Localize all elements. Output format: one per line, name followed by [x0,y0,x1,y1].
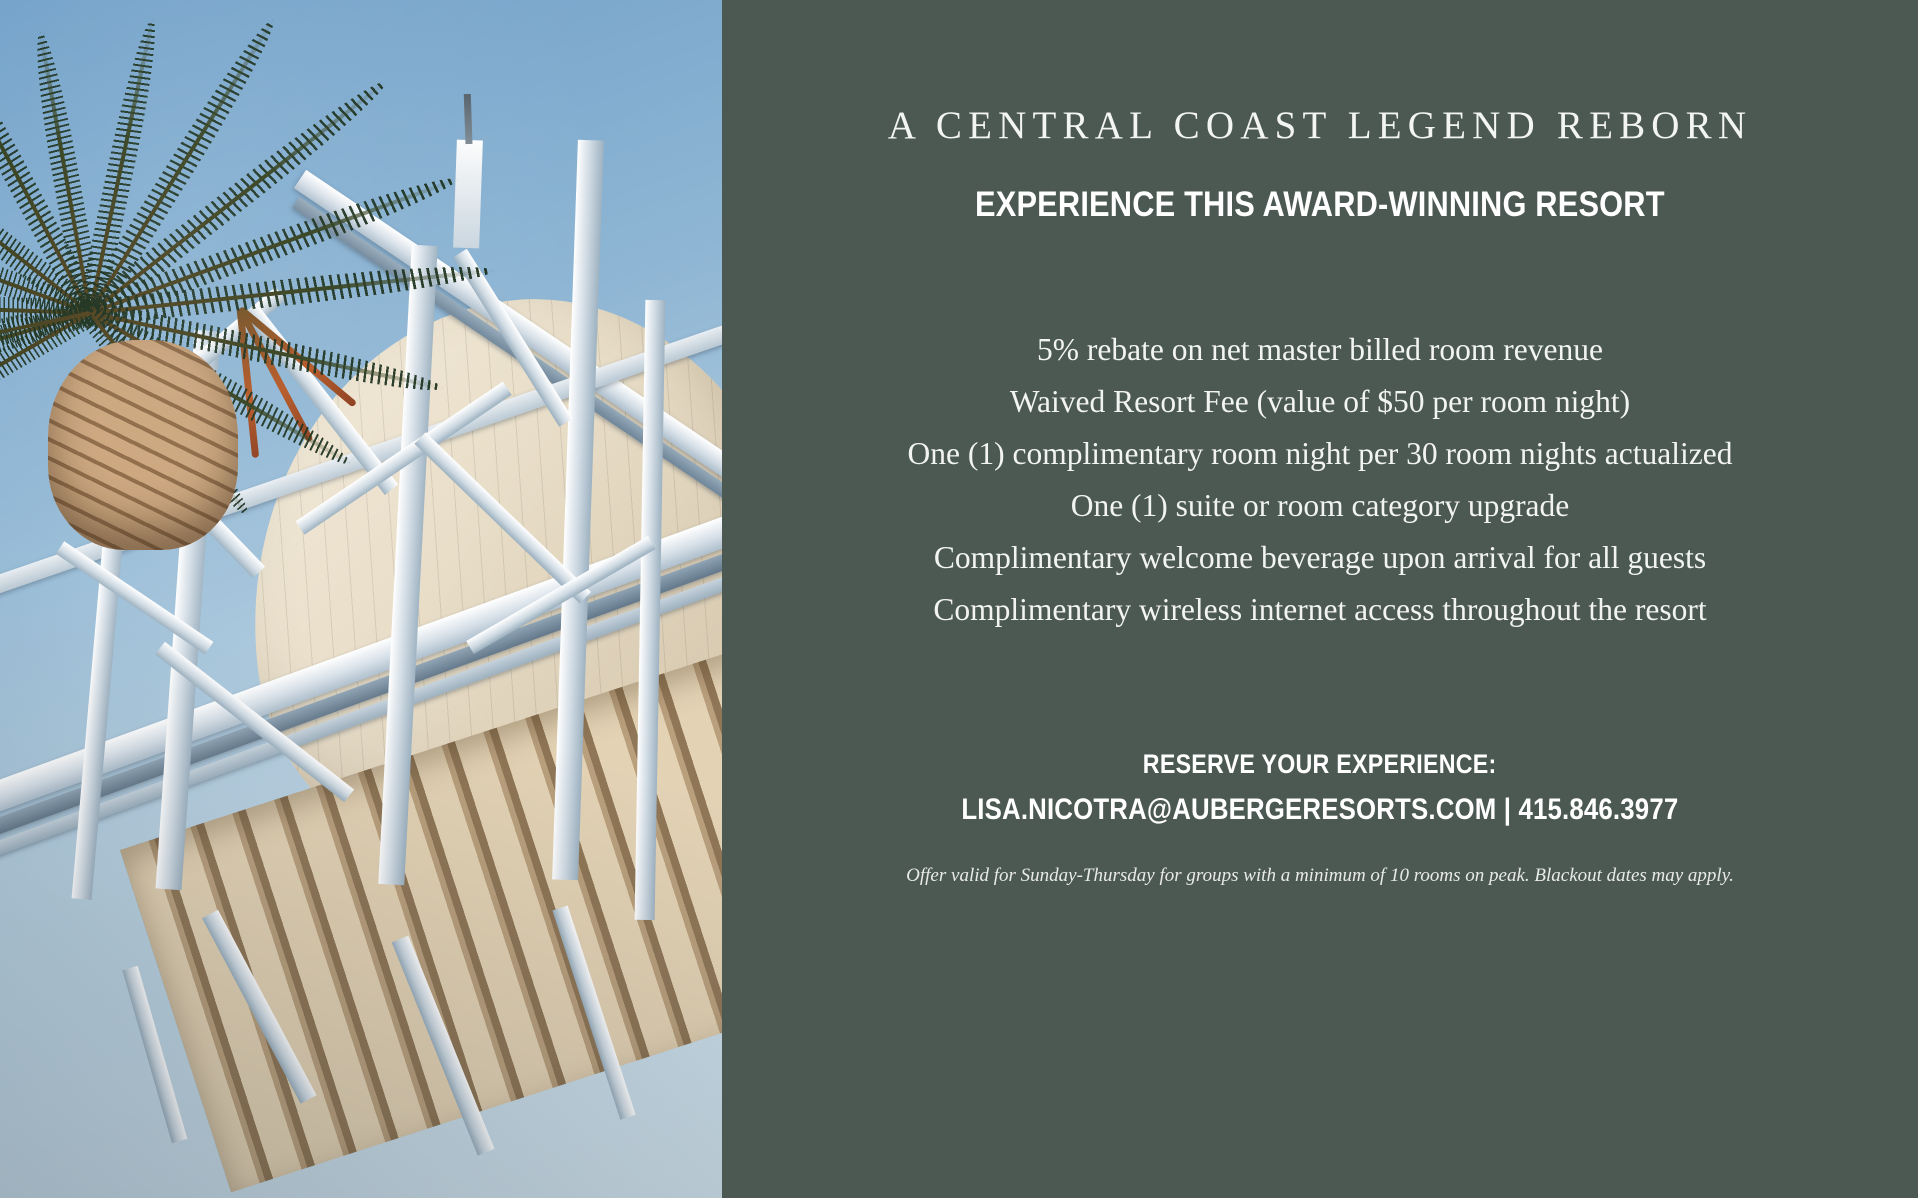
palm-tree [0,0,560,610]
list-item: One (1) complimentary room night per 30 … [908,428,1733,480]
offer-content-panel: A CENTRAL COAST LEGEND REBORN EXPERIENCE… [722,0,1918,1198]
list-item: Complimentary welcome beverage upon arri… [934,532,1706,584]
promotional-flyer: A CENTRAL COAST LEGEND REBORN EXPERIENCE… [0,0,1918,1198]
reserve-label: RESERVE YOUR EXPERIENCE: [1143,749,1497,780]
reserve-contact-line[interactable]: LISA.NICOTRA@AUBERGERESORTS.COM | 415.84… [962,793,1679,827]
list-item: Waived Resort Fee (value of $50 per room… [1010,376,1630,428]
reservation-contact-block: RESERVE YOUR EXPERIENCE: LISA.NICOTRA@AU… [722,749,1918,827]
offer-fineprint: Offer valid for Sunday-Thursday for grou… [906,865,1734,887]
list-item: 5% rebate on net master billed room reve… [1037,324,1603,376]
resort-photograph [0,0,722,1198]
list-item: One (1) suite or room category upgrade [1071,480,1570,532]
page-title: A CENTRAL COAST LEGEND REBORN [888,103,1753,148]
palm-trunk-crown [48,340,238,550]
list-item: Complimentary wireless internet access t… [933,584,1706,636]
benefits-list: 5% rebate on net master billed room reve… [722,324,1918,636]
page-subtitle: EXPERIENCE THIS AWARD-WINNING RESORT [975,185,1665,225]
